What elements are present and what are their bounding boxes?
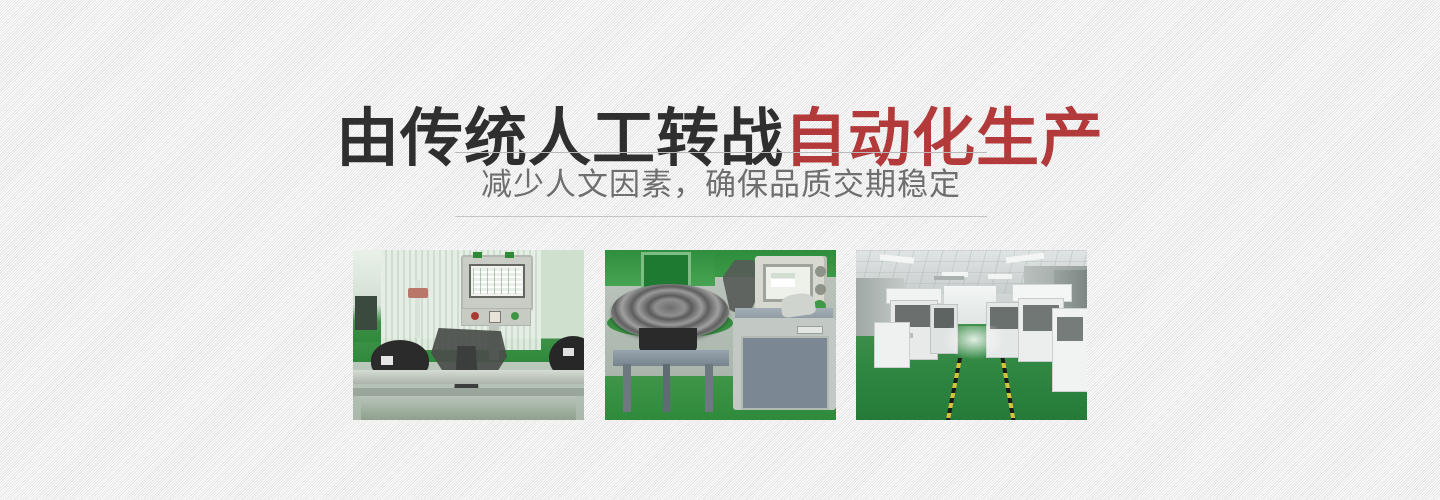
p2-machine-door [741, 336, 829, 410]
p2-knob-upper [815, 266, 826, 277]
banner-subtitle: 减少人文因素，确保品质交期稳定 [455, 153, 987, 216]
p1-indicator-led-left [473, 252, 482, 258]
p3-floor-safety-line-left [946, 358, 962, 420]
divider-bottom [455, 216, 987, 217]
p3-floor-glare [942, 326, 1006, 360]
promo-banner: S O O T A A N 由传统人工转战自动化生产 减少人文因素，确保品质交期… [0, 0, 1440, 500]
p1-hmi-screen [469, 264, 525, 298]
p2-table-leg-left [623, 364, 631, 412]
p1-stop-button [471, 312, 479, 320]
p2-table-leg-center [663, 364, 670, 412]
p3-ceiling-fan [934, 276, 964, 280]
subtitle-block: 减少人文因素，确保品质交期稳定 [455, 152, 987, 217]
photo-vibratory-bowl-feeder [605, 250, 836, 420]
p1-emergency-button [489, 311, 501, 323]
p1-conveyor-rail-lower [353, 388, 584, 396]
p1-hmi-columns [473, 268, 521, 294]
photo-gallery [353, 250, 1087, 420]
p1-conveyor-rail [353, 370, 584, 384]
p1-machine-base [361, 396, 576, 420]
p1-doorway [355, 296, 377, 330]
banner-content: 由传统人工转战自动化生产 减少人文因素，确保品质交期稳定 [0, 0, 1440, 500]
p2-table-leg-right [705, 364, 713, 412]
p3-cart-right [1052, 308, 1087, 392]
p1-indicator-led-right [505, 252, 514, 258]
p3-ceiling-lamp-4 [988, 274, 1012, 279]
p2-knob-lower [815, 284, 826, 295]
p3-floor-safety-line-right [1001, 358, 1016, 420]
p3-cart-left [874, 322, 910, 368]
p1-start-button [511, 312, 519, 320]
photo-factory-workshop-line [856, 250, 1087, 420]
p2-door-handle [797, 326, 823, 334]
p1-valve [408, 288, 428, 298]
photo-automated-assembly-station [353, 250, 584, 420]
